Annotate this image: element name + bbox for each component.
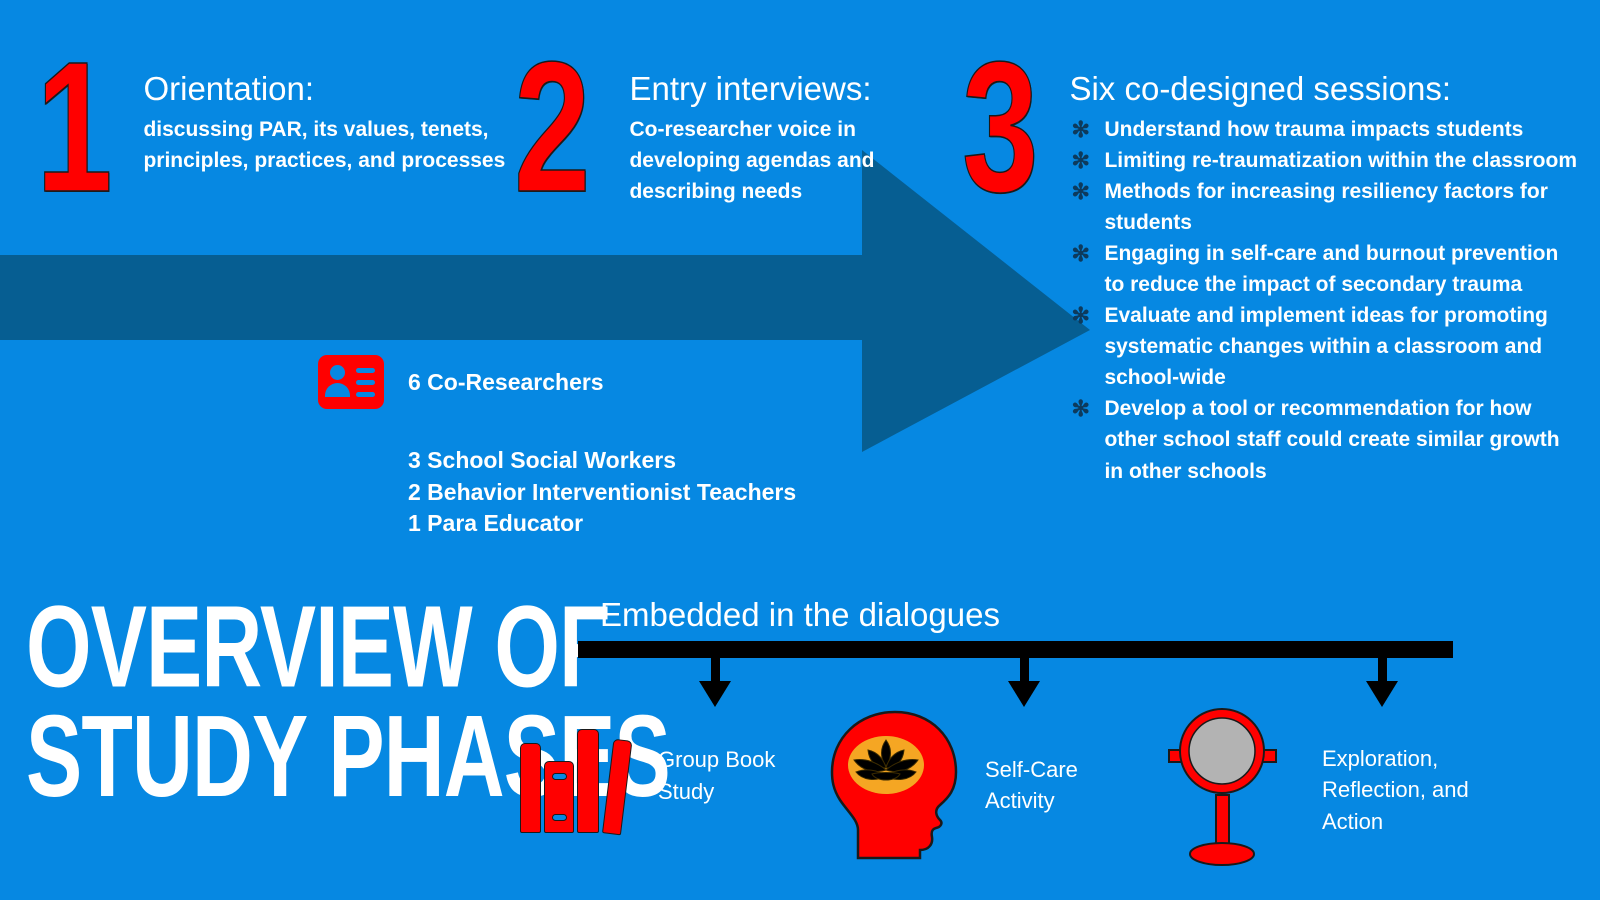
embedded-arrow-head-icon xyxy=(1008,681,1040,707)
embedded-arrow-head-icon xyxy=(699,681,731,707)
book-label-slot-icon xyxy=(552,773,567,780)
phase-3-bullet-item: ✻Limiting re-traumatization within the c… xyxy=(1069,145,1579,176)
head-lotus-icon xyxy=(828,710,963,860)
phase-3-bullet-text: Limiting re-traumatization within the cl… xyxy=(1104,149,1577,172)
phase-3: 3 Six co-designed sessions: ✻Understand … xyxy=(962,52,1579,487)
book-spine-icon xyxy=(577,729,599,833)
embedded-item-exploration-reflection-action: Exploration, Reflection, and Action xyxy=(1155,700,1492,880)
embedded-item-caption: Self-Care Activity xyxy=(985,754,1125,816)
phase-3-bullet-item: ✻Understand how trauma impacts students xyxy=(1069,114,1579,145)
embedded-arrow-stem xyxy=(711,658,720,683)
book-spine-tilted-icon xyxy=(602,739,632,836)
phase-1-title: Orientation: xyxy=(143,72,543,107)
phase-3-bullet-item: ✻Evaluate and implement ideas for promot… xyxy=(1069,300,1579,393)
coresearchers-block: 6 Co-Researchers 3 School Social Workers… xyxy=(318,355,796,540)
id-card-line-icon xyxy=(356,368,375,373)
vanity-mirror-icon xyxy=(1155,700,1290,880)
embedded-item-caption: Group Book Study xyxy=(658,744,808,806)
phase-3-bullet-text: Develop a tool or recommendation for how… xyxy=(1104,397,1559,482)
asterisk-bullet-icon: ✻ xyxy=(1071,176,1089,209)
phase-1-description: discussing PAR, its values, tenets, prin… xyxy=(143,114,543,176)
phase-3-bullet-item: ✻Engaging in self-care and burnout preve… xyxy=(1069,238,1579,300)
coresearchers-breakdown-item: 3 School Social Workers xyxy=(408,445,796,477)
id-card-person-head-icon xyxy=(330,365,345,380)
books-icon xyxy=(516,718,636,833)
embedded-item-caption: Exploration, Reflection, and Action xyxy=(1322,743,1492,837)
book-label-slot-icon xyxy=(552,814,567,821)
phase-3-bullet-text: Evaluate and implement ideas for promoti… xyxy=(1104,304,1547,389)
book-spine-icon xyxy=(544,761,574,833)
asterisk-bullet-icon: ✻ xyxy=(1071,145,1089,178)
id-card-line-icon xyxy=(356,380,375,385)
embedded-heading: Embedded in the dialogues xyxy=(600,596,1000,634)
coresearchers-breakdown-list: 3 School Social Workers2 Behavior Interv… xyxy=(408,445,796,540)
embedded-arrow-stem xyxy=(1020,658,1029,683)
phase-2-number: 2 xyxy=(514,52,589,205)
phase-3-bullet-text: Methods for increasing resiliency factor… xyxy=(1104,180,1547,234)
mirror-glass xyxy=(1189,718,1255,784)
mirror-stem xyxy=(1216,795,1229,850)
embedded-arrow-stem xyxy=(1378,658,1387,683)
phase-2-title: Entry interviews: xyxy=(629,72,939,107)
phase-2: 2 Entry interviews: Co-researcher voice … xyxy=(514,52,939,207)
id-card-icon xyxy=(318,355,384,409)
embedded-item-group-book-study: Group Book Study xyxy=(516,718,808,833)
asterisk-bullet-icon: ✻ xyxy=(1071,393,1089,426)
phase-1: 1 Orientation: discussing PAR, its value… xyxy=(36,52,543,205)
book-spine-icon xyxy=(520,743,541,833)
coresearchers-breakdown-item: 2 Behavior Interventionist Teachers xyxy=(408,477,796,509)
asterisk-bullet-icon: ✻ xyxy=(1071,300,1089,333)
infographic-canvas: 1 Orientation: discussing PAR, its value… xyxy=(0,0,1600,900)
phase-3-bullet-text: Understand how trauma impacts students xyxy=(1104,118,1523,141)
asterisk-bullet-icon: ✻ xyxy=(1071,238,1089,271)
id-card-line-icon xyxy=(356,392,375,397)
phase-3-title: Six co-designed sessions: xyxy=(1069,72,1579,107)
id-card-person-body-icon xyxy=(325,383,350,397)
embedded-connector-bar xyxy=(578,641,1453,658)
mirror-base xyxy=(1190,843,1254,865)
phase-3-number: 3 xyxy=(962,52,1037,205)
phase-2-description: Co-researcher voice in developing agenda… xyxy=(629,114,939,207)
asterisk-bullet-icon: ✻ xyxy=(1071,114,1089,147)
phase-3-bullet-text: Engaging in self-care and burnout preven… xyxy=(1104,242,1558,296)
coresearchers-label: 6 Co-Researchers xyxy=(408,369,604,396)
phase-3-bullet-item: ✻Methods for increasing resiliency facto… xyxy=(1069,176,1579,238)
phase-1-number: 1 xyxy=(36,52,111,205)
embedded-item-self-care-activity: Self-Care Activity xyxy=(828,710,1125,860)
phase-3-bullet-item: ✻Develop a tool or recommendation for ho… xyxy=(1069,393,1579,486)
phase-3-bullet-list: ✻Understand how trauma impacts students✻… xyxy=(1069,114,1579,487)
page-title-line: Overview of xyxy=(26,592,670,702)
coresearchers-breakdown-item: 1 Para Educator xyxy=(408,508,796,540)
